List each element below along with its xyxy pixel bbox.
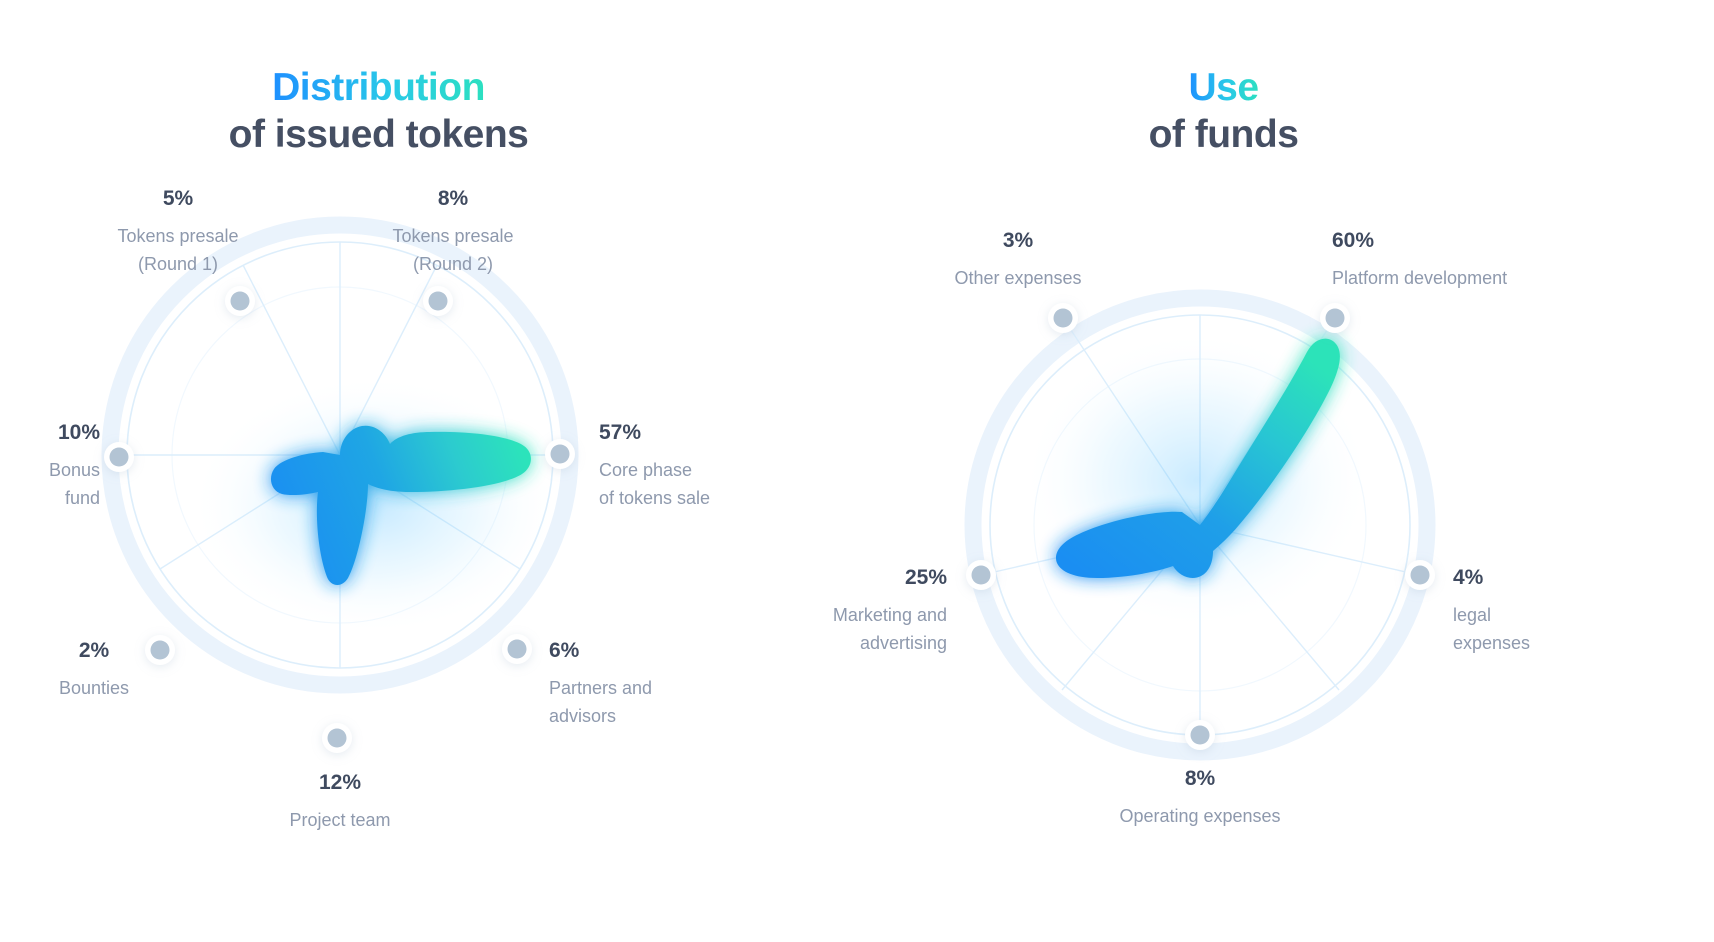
label-partners-advisors: 6% Partners and advisors <box>549 638 779 730</box>
label-name-line2: expenses <box>1453 629 1643 657</box>
label-pct: 5% <box>82 186 274 212</box>
label-tokens-presale-round-2: 8% Tokens presale (Round 2) <box>357 186 549 278</box>
axis-dot-tokens-presale-round-1[interactable] <box>225 286 255 316</box>
label-project-team: 12% Project team <box>244 770 436 834</box>
label-pct: 6% <box>549 638 779 664</box>
axis-dot-other-expenses[interactable] <box>1048 303 1078 333</box>
label-pct: 25% <box>747 565 947 591</box>
label-bonus-fund: 10% Bonus fund <box>0 420 100 512</box>
label-pct: 2% <box>20 638 168 664</box>
label-platform-development: 60% Platform development <box>1332 228 1592 292</box>
label-name-line2: advertising <box>747 629 947 657</box>
axis-dot-tokens-presale-round-2[interactable] <box>423 286 453 316</box>
label-pct: 57% <box>599 420 829 446</box>
label-name-line1: Bounties <box>20 674 168 702</box>
label-pct: 10% <box>0 420 100 446</box>
label-bounties: 2% Bounties <box>20 638 168 702</box>
axis-dot-platform-development[interactable] <box>1320 303 1350 333</box>
label-name-line1: Tokens presale <box>357 222 549 250</box>
label-name-line2: of tokens sale <box>599 484 829 512</box>
label-name-line2: fund <box>0 484 100 512</box>
label-pct: 8% <box>357 186 549 212</box>
radar-blob-glow <box>190 375 560 635</box>
label-pct: 8% <box>1084 766 1316 792</box>
label-other-expenses: 3% Other expenses <box>902 228 1134 292</box>
label-name-line2: (Round 2) <box>357 250 549 278</box>
axis-dot-marketing-advertising[interactable] <box>966 560 996 590</box>
label-pct: 60% <box>1332 228 1592 254</box>
axis-dot-bonus-fund[interactable] <box>104 442 134 472</box>
label-name-line1: Operating expenses <box>1084 802 1316 830</box>
radar-chart-funds: 3% Other expenses 60% Platform developme… <box>857 0 1714 942</box>
label-name-line1: Core phase <box>599 456 829 484</box>
infographic-stage: Distribution of issued tokens <box>0 0 1714 942</box>
label-pct: 3% <box>902 228 1134 254</box>
label-name-line1: legal <box>1453 601 1643 629</box>
label-name-line1: Project team <box>244 806 436 834</box>
label-name-line1: Platform development <box>1332 264 1592 292</box>
axis-dot-project-team[interactable] <box>322 723 352 753</box>
axis-dot-operating-expenses[interactable] <box>1185 720 1215 750</box>
label-name-line1: Bonus <box>0 456 100 484</box>
label-name-line1: Partners and <box>549 674 779 702</box>
label-pct: 12% <box>244 770 436 796</box>
label-name-line1: Tokens presale <box>82 222 274 250</box>
label-name-line2: (Round 1) <box>82 250 274 278</box>
axis-dot-core-phase[interactable] <box>545 439 575 469</box>
label-name-line1: Marketing and <box>747 601 947 629</box>
label-name-line1: Other expenses <box>902 264 1134 292</box>
panel-funds: Use of funds <box>857 0 1714 942</box>
label-name-line2: advisors <box>549 702 779 730</box>
label-marketing-advertising: 25% Marketing and advertising <box>747 565 947 657</box>
label-pct: 4% <box>1453 565 1643 591</box>
axis-dot-legal-expenses[interactable] <box>1405 560 1435 590</box>
label-legal-expenses: 4% legal expenses <box>1453 565 1643 657</box>
label-tokens-presale-round-1: 5% Tokens presale (Round 1) <box>82 186 274 278</box>
label-core-phase: 57% Core phase of tokens sale <box>599 420 829 512</box>
axis-dot-partners-advisors[interactable] <box>502 634 532 664</box>
label-operating-expenses: 8% Operating expenses <box>1084 766 1316 830</box>
panel-distribution: Distribution of issued tokens <box>0 0 857 942</box>
radar-chart-distribution: 5% Tokens presale (Round 1) 8% Tokens pr… <box>0 0 857 942</box>
